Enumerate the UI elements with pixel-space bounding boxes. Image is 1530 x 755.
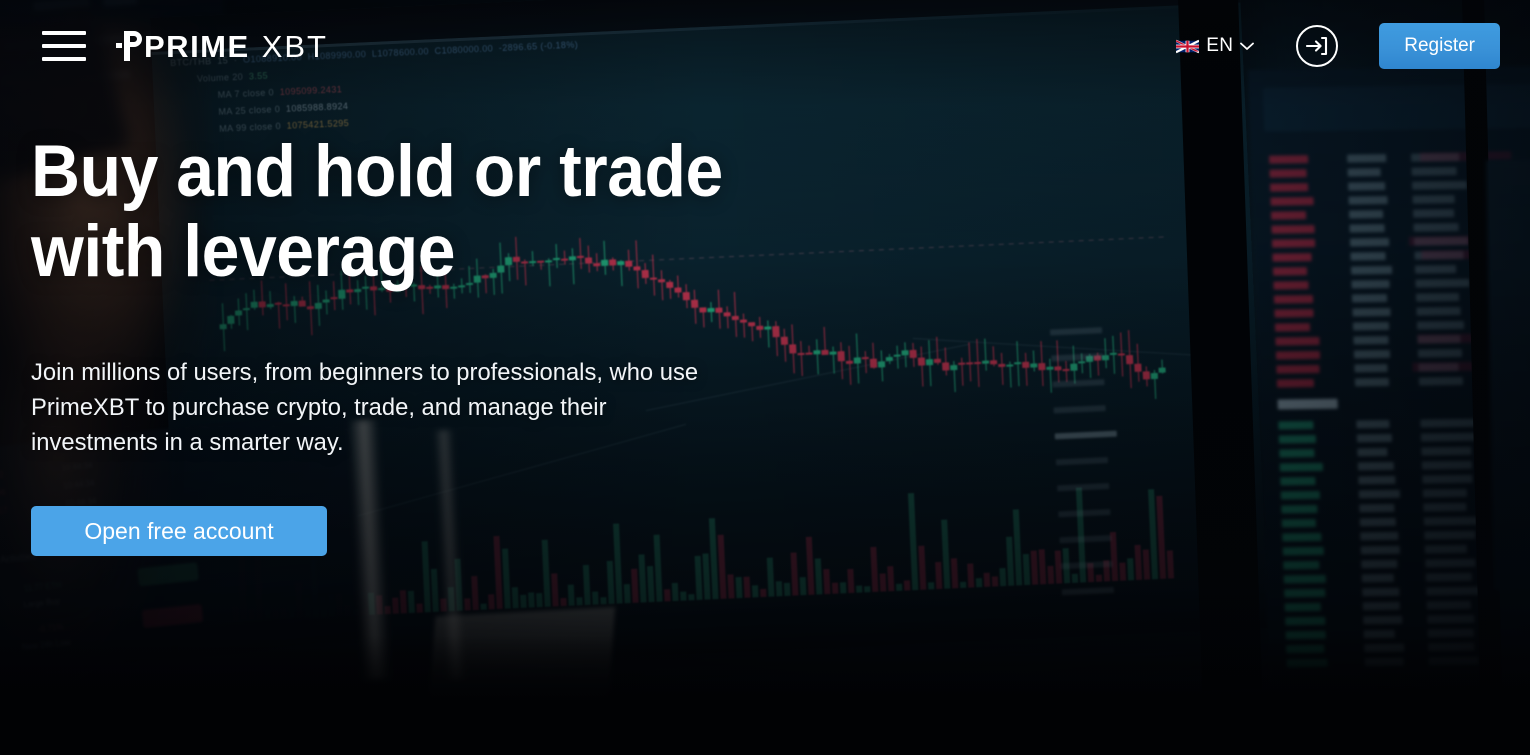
page-title: Buy and hold or trade with leverage <box>31 132 756 292</box>
header-actions: EN Register <box>1176 23 1500 69</box>
prime-xbt-mark-icon <box>116 31 142 61</box>
chevron-down-icon <box>1240 42 1254 51</box>
uk-flag-icon <box>1176 39 1199 54</box>
background-price-axis <box>1040 325 1175 660</box>
logo-text-xbt: XBT <box>262 31 328 62</box>
background-far-monitor <box>1486 160 1530 591</box>
landing-page: BTC/THB 15 · O1088910.00 H1089990.00 L10… <box>0 0 1530 755</box>
login-arrow-icon <box>1306 36 1328 56</box>
login-button[interactable] <box>1296 25 1338 67</box>
hamburger-menu-icon[interactable] <box>42 31 86 61</box>
register-button[interactable]: Register <box>1379 23 1500 69</box>
hamburger-bar-3 <box>42 57 86 61</box>
logo-text-prime: PRIME <box>144 31 250 62</box>
primexbt-logo[interactable]: PRIME XBT <box>116 31 328 62</box>
language-selector[interactable]: EN <box>1176 35 1254 57</box>
hero-description: Join millions of users, from beginners t… <box>31 355 768 460</box>
hamburger-bar-2 <box>42 44 86 48</box>
language-label: EN <box>1206 35 1233 57</box>
hamburger-bar-1 <box>42 31 86 35</box>
hero-section: Buy and hold or trade with leverage Join… <box>31 132 811 556</box>
site-header: PRIME XBT EN <box>0 0 1530 92</box>
open-free-account-button[interactable]: Open free account <box>31 506 327 556</box>
